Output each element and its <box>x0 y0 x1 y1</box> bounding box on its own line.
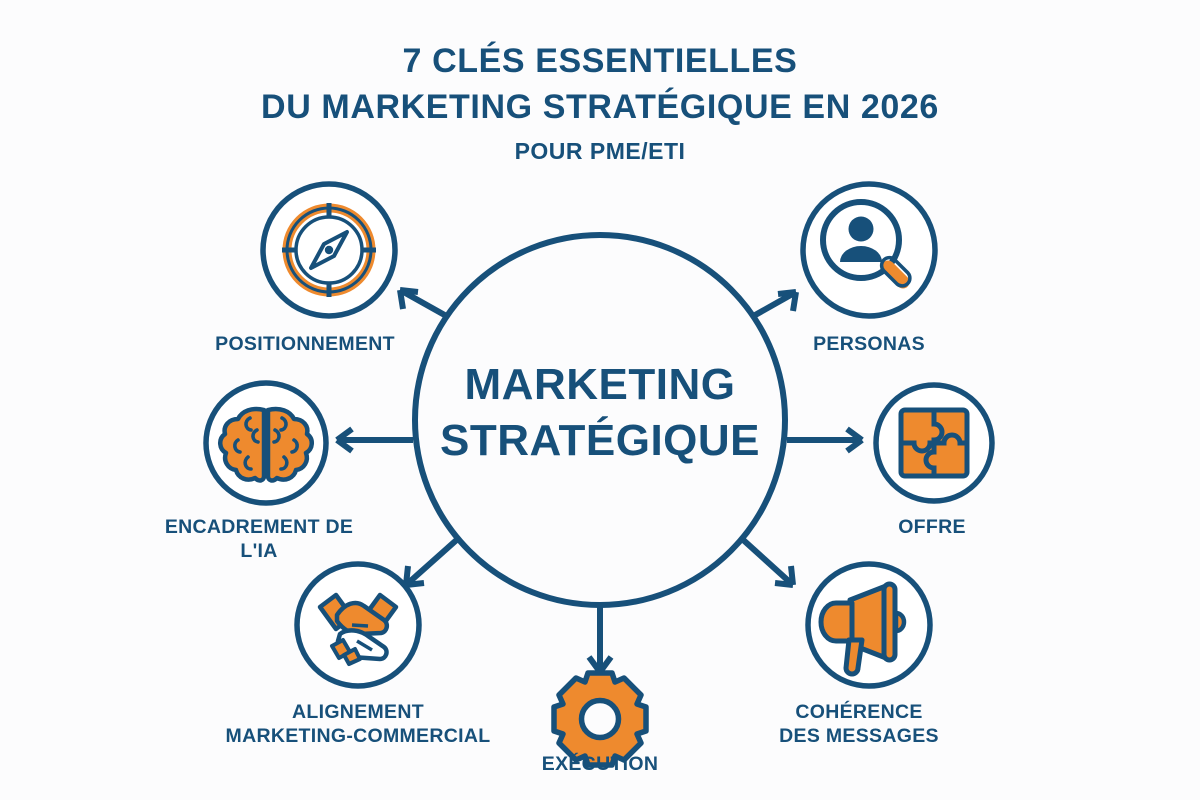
node-personas[interactable] <box>803 184 935 316</box>
node-offre[interactable] <box>876 385 992 501</box>
node-coherence[interactable] <box>808 564 930 686</box>
label-positionnement: POSITIONNEMENT <box>175 332 435 356</box>
center-label: MARKETING STRATÉGIQUE <box>440 357 760 469</box>
node-positionnement[interactable] <box>263 184 395 316</box>
label-encadrement-ia: ENCADREMENT DE L'IA <box>119 515 399 563</box>
label-offre: OFFRE <box>842 515 1022 539</box>
label-personas: PERSONAS <box>759 332 979 356</box>
brain-icon <box>220 409 312 480</box>
node-encadrement-ia[interactable] <box>206 383 326 503</box>
puzzle-icon <box>901 410 967 476</box>
arrow-to-encadrement-ia <box>337 429 413 451</box>
label-execution: EXÉCUTION <box>490 752 710 776</box>
node-alignement[interactable] <box>297 564 419 686</box>
label-coherence: COHÉRENCE DES MESSAGES <box>729 700 989 748</box>
infographic-canvas: 7 CLÉS ESSENTIELLES DU MARKETING STRATÉG… <box>0 0 1200 800</box>
label-alignement: ALIGNEMENT MARKETING-COMMERCIAL <box>188 700 528 748</box>
arrow-to-offre <box>787 429 862 451</box>
arrow-to-execution <box>589 605 611 672</box>
